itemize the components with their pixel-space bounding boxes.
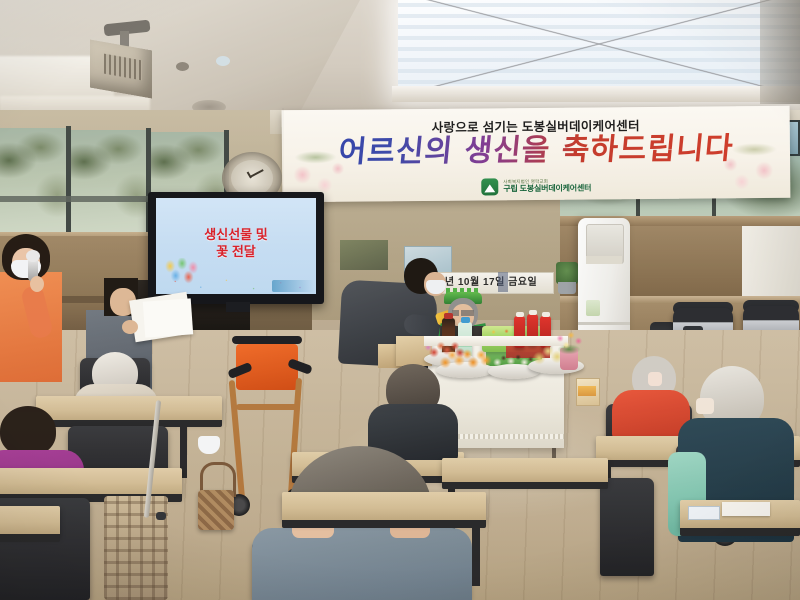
name-card	[688, 506, 720, 520]
ceiling-light-surround	[392, 86, 800, 102]
desk-left-back[interactable]	[36, 396, 222, 422]
rollator-handle-bar[interactable]	[232, 336, 302, 344]
window-mullion-1	[66, 126, 71, 238]
desk-left-front[interactable]	[0, 506, 60, 536]
ceiling-right-shadow	[760, 0, 800, 104]
date-sign-divider	[498, 272, 508, 292]
wall-poster-green	[340, 240, 388, 270]
slide-footer-logo	[272, 280, 314, 292]
desk-center-right[interactable]	[442, 458, 608, 484]
senior-head-purple	[0, 406, 56, 456]
rollator-crossbar	[236, 404, 298, 410]
room-photo-scene: 사랑으로 섬기는 도봉실버데이케어센터 어르신의 생신을 축하드립니다 사회복지…	[0, 0, 800, 600]
snack-box-label	[578, 386, 596, 396]
face-mask-icon	[696, 398, 714, 414]
staff-mic-hand	[30, 276, 44, 292]
potted-plant-icon	[556, 262, 578, 284]
white-cabinet-right	[742, 226, 800, 302]
desk-center-right-edge	[442, 482, 608, 489]
clock-face	[231, 160, 273, 196]
cane-tip	[156, 512, 166, 520]
program-papers-front[interactable]	[143, 298, 193, 337]
desk-left-front-edge	[0, 534, 60, 542]
desk-leg	[472, 526, 480, 586]
ac-seam	[578, 322, 630, 325]
window-foliage-2	[70, 130, 148, 236]
patterned-handbag-icon[interactable]	[198, 490, 234, 530]
bouquet-right-icon	[552, 328, 586, 354]
desk-left-mid[interactable]	[0, 468, 182, 496]
ceiling-frame-diagonal-b	[398, 0, 800, 96]
staff-papers-hand	[122, 320, 138, 334]
slide-title: 생신선물 및 꽃 전달	[156, 226, 316, 260]
desk-right-front-edge	[680, 528, 800, 536]
chair-right-far[interactable]	[600, 478, 654, 576]
slide-title-line1: 생신선물 및	[156, 226, 316, 243]
eyeglasses-icon	[452, 310, 474, 316]
television-stand	[226, 302, 250, 312]
desk-foreground[interactable]	[282, 492, 486, 522]
ceiling-light-spot	[216, 56, 230, 66]
face-mask-icon	[648, 372, 662, 386]
foreground-senior-torso	[252, 528, 472, 600]
tangerines-icon	[436, 348, 494, 370]
banner-fold-shading	[282, 108, 790, 200]
ceiling-sensor-icon	[176, 62, 189, 71]
window-foliage-1	[0, 128, 68, 236]
plant-pot	[558, 282, 576, 294]
paper-sheet[interactable]	[722, 502, 770, 516]
microphone-head-icon	[26, 250, 40, 262]
hanging-face-mask-icon	[198, 436, 220, 454]
desk-foreground-edge	[282, 520, 486, 528]
ac-band	[586, 256, 622, 264]
ac-sticker	[586, 300, 600, 316]
